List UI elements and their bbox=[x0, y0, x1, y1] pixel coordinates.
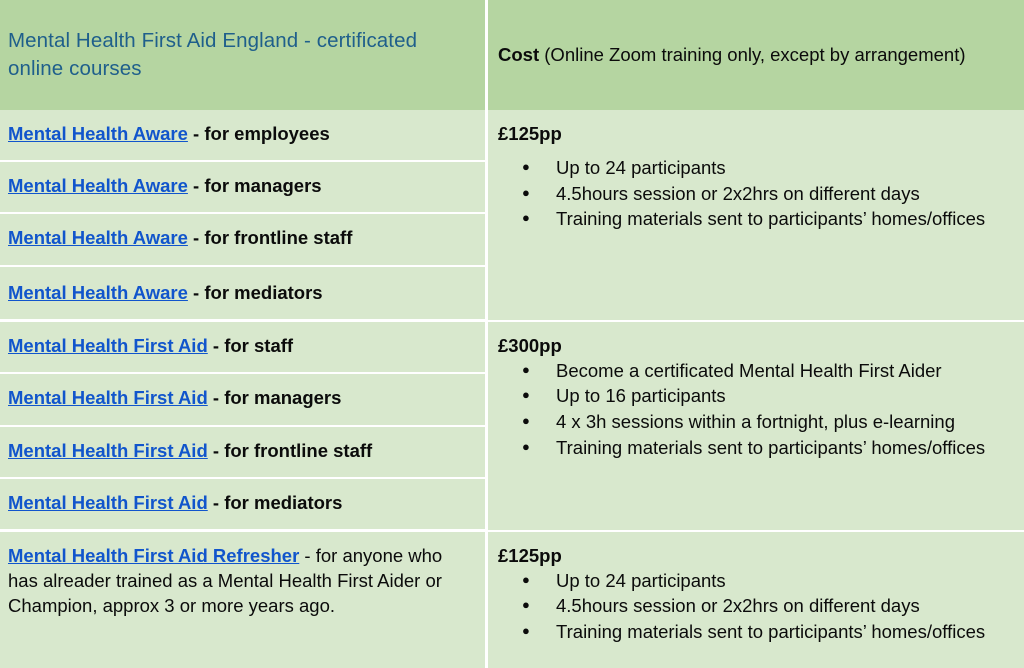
header-row: Mental Health First Aid England - certif… bbox=[0, 0, 1024, 110]
course-cell: Mental Health Aware - for managers bbox=[0, 161, 485, 213]
course-cell: Mental Health Aware - for mediators bbox=[0, 266, 485, 321]
column-divider bbox=[485, 213, 488, 265]
price-label: £300pp bbox=[498, 333, 1012, 358]
course-cell: Mental Health First Aid - for mediators bbox=[0, 478, 485, 531]
course-cell: Mental Health Aware - for employees bbox=[0, 110, 485, 161]
course-link-mental-health-first-aid-managers[interactable]: Mental Health First Aid bbox=[8, 387, 208, 408]
course-link-mental-health-first-aid-mediators[interactable]: Mental Health First Aid bbox=[8, 492, 208, 513]
list-item: 4 x 3h sessions within a fortnight, plus… bbox=[556, 410, 1012, 435]
course-link-mental-health-first-aid-frontline-staff[interactable]: Mental Health First Aid bbox=[8, 440, 208, 461]
cost-cell-group-2: £300pp Become a certificated Mental Heal… bbox=[488, 321, 1024, 531]
column-divider bbox=[485, 373, 488, 425]
course-cell: Mental Health First Aid Refresher - for … bbox=[0, 531, 485, 668]
course-link-mental-health-first-aid-refresher[interactable]: Mental Health First Aid Refresher bbox=[8, 545, 299, 566]
table-row: Mental Health First Aid Refresher - for … bbox=[0, 531, 1024, 668]
cost-cell-group-3: £125pp Up to 24 participants 4.5hours se… bbox=[488, 531, 1024, 668]
cost-feature-list: Up to 24 participants 4.5hours session o… bbox=[498, 147, 1012, 232]
cost-column-title: Cost (Online Zoom training only, except … bbox=[498, 42, 1010, 68]
course-suffix: - for staff bbox=[208, 335, 293, 356]
course-cell: Mental Health Aware - for frontline staf… bbox=[0, 213, 485, 265]
cost-column-title-rest: (Online Zoom training only, except by ar… bbox=[539, 44, 965, 65]
course-link-mental-health-aware-frontline-staff[interactable]: Mental Health Aware bbox=[8, 227, 188, 248]
column-divider bbox=[485, 426, 488, 478]
courses-pricing-table: Mental Health First Aid England - certif… bbox=[0, 0, 1024, 668]
table-row: Mental Health First Aid - for staff £300… bbox=[0, 321, 1024, 374]
cost-feature-list: Become a certificated Mental Health Firs… bbox=[498, 359, 1012, 460]
price-label: £125pp bbox=[498, 121, 1012, 146]
list-item: 4.5hours session or 2x2hrs on different … bbox=[556, 182, 1012, 207]
course-suffix: - for managers bbox=[188, 175, 322, 196]
list-item: Up to 16 participants bbox=[556, 384, 1012, 409]
table-body: Mental Health Aware - for employees £125… bbox=[0, 110, 1024, 668]
column-divider bbox=[485, 478, 488, 531]
course-link-mental-health-aware-mediators[interactable]: Mental Health Aware bbox=[8, 282, 188, 303]
header-cell-courses: Mental Health First Aid England - certif… bbox=[0, 0, 485, 110]
cost-feature-list: Up to 24 participants 4.5hours session o… bbox=[498, 569, 1012, 645]
list-item: Up to 24 participants bbox=[556, 569, 1012, 594]
course-link-mental-health-aware-employees[interactable]: Mental Health Aware bbox=[8, 123, 188, 144]
header-cell-cost: Cost (Online Zoom training only, except … bbox=[488, 0, 1024, 110]
course-cell: Mental Health First Aid - for managers bbox=[0, 373, 485, 425]
table-row: Mental Health Aware - for employees £125… bbox=[0, 110, 1024, 161]
table-header: Mental Health First Aid England - certif… bbox=[0, 0, 1024, 110]
course-suffix: - for employees bbox=[188, 123, 330, 144]
course-suffix: - for mediators bbox=[188, 282, 323, 303]
list-item: 4.5hours session or 2x2hrs on different … bbox=[556, 594, 1012, 619]
course-suffix: - for mediators bbox=[208, 492, 343, 513]
course-suffix: - for frontline staff bbox=[208, 440, 372, 461]
column-divider bbox=[485, 266, 488, 321]
course-cell: Mental Health First Aid - for frontline … bbox=[0, 426, 485, 478]
cost-cell-group-1: £125pp Up to 24 participants 4.5hours se… bbox=[488, 110, 1024, 321]
list-item: Training materials sent to participants’… bbox=[556, 620, 1012, 645]
list-item: Up to 24 participants bbox=[556, 156, 1012, 181]
list-item: Training materials sent to participants’… bbox=[556, 436, 1012, 461]
cost-column-title-lead: Cost bbox=[498, 44, 539, 65]
price-label: £125pp bbox=[498, 543, 1012, 568]
course-suffix: - for managers bbox=[208, 387, 342, 408]
column-divider bbox=[485, 161, 488, 213]
list-item: Become a certificated Mental Health Firs… bbox=[556, 359, 1012, 384]
course-link-mental-health-first-aid-staff[interactable]: Mental Health First Aid bbox=[8, 335, 208, 356]
courses-column-title: Mental Health First Aid England - certif… bbox=[8, 27, 471, 84]
course-link-mental-health-aware-managers[interactable]: Mental Health Aware bbox=[8, 175, 188, 196]
list-item: Training materials sent to participants’… bbox=[556, 207, 1012, 232]
course-suffix: - for frontline staff bbox=[188, 227, 352, 248]
course-cell: Mental Health First Aid - for staff bbox=[0, 321, 485, 374]
